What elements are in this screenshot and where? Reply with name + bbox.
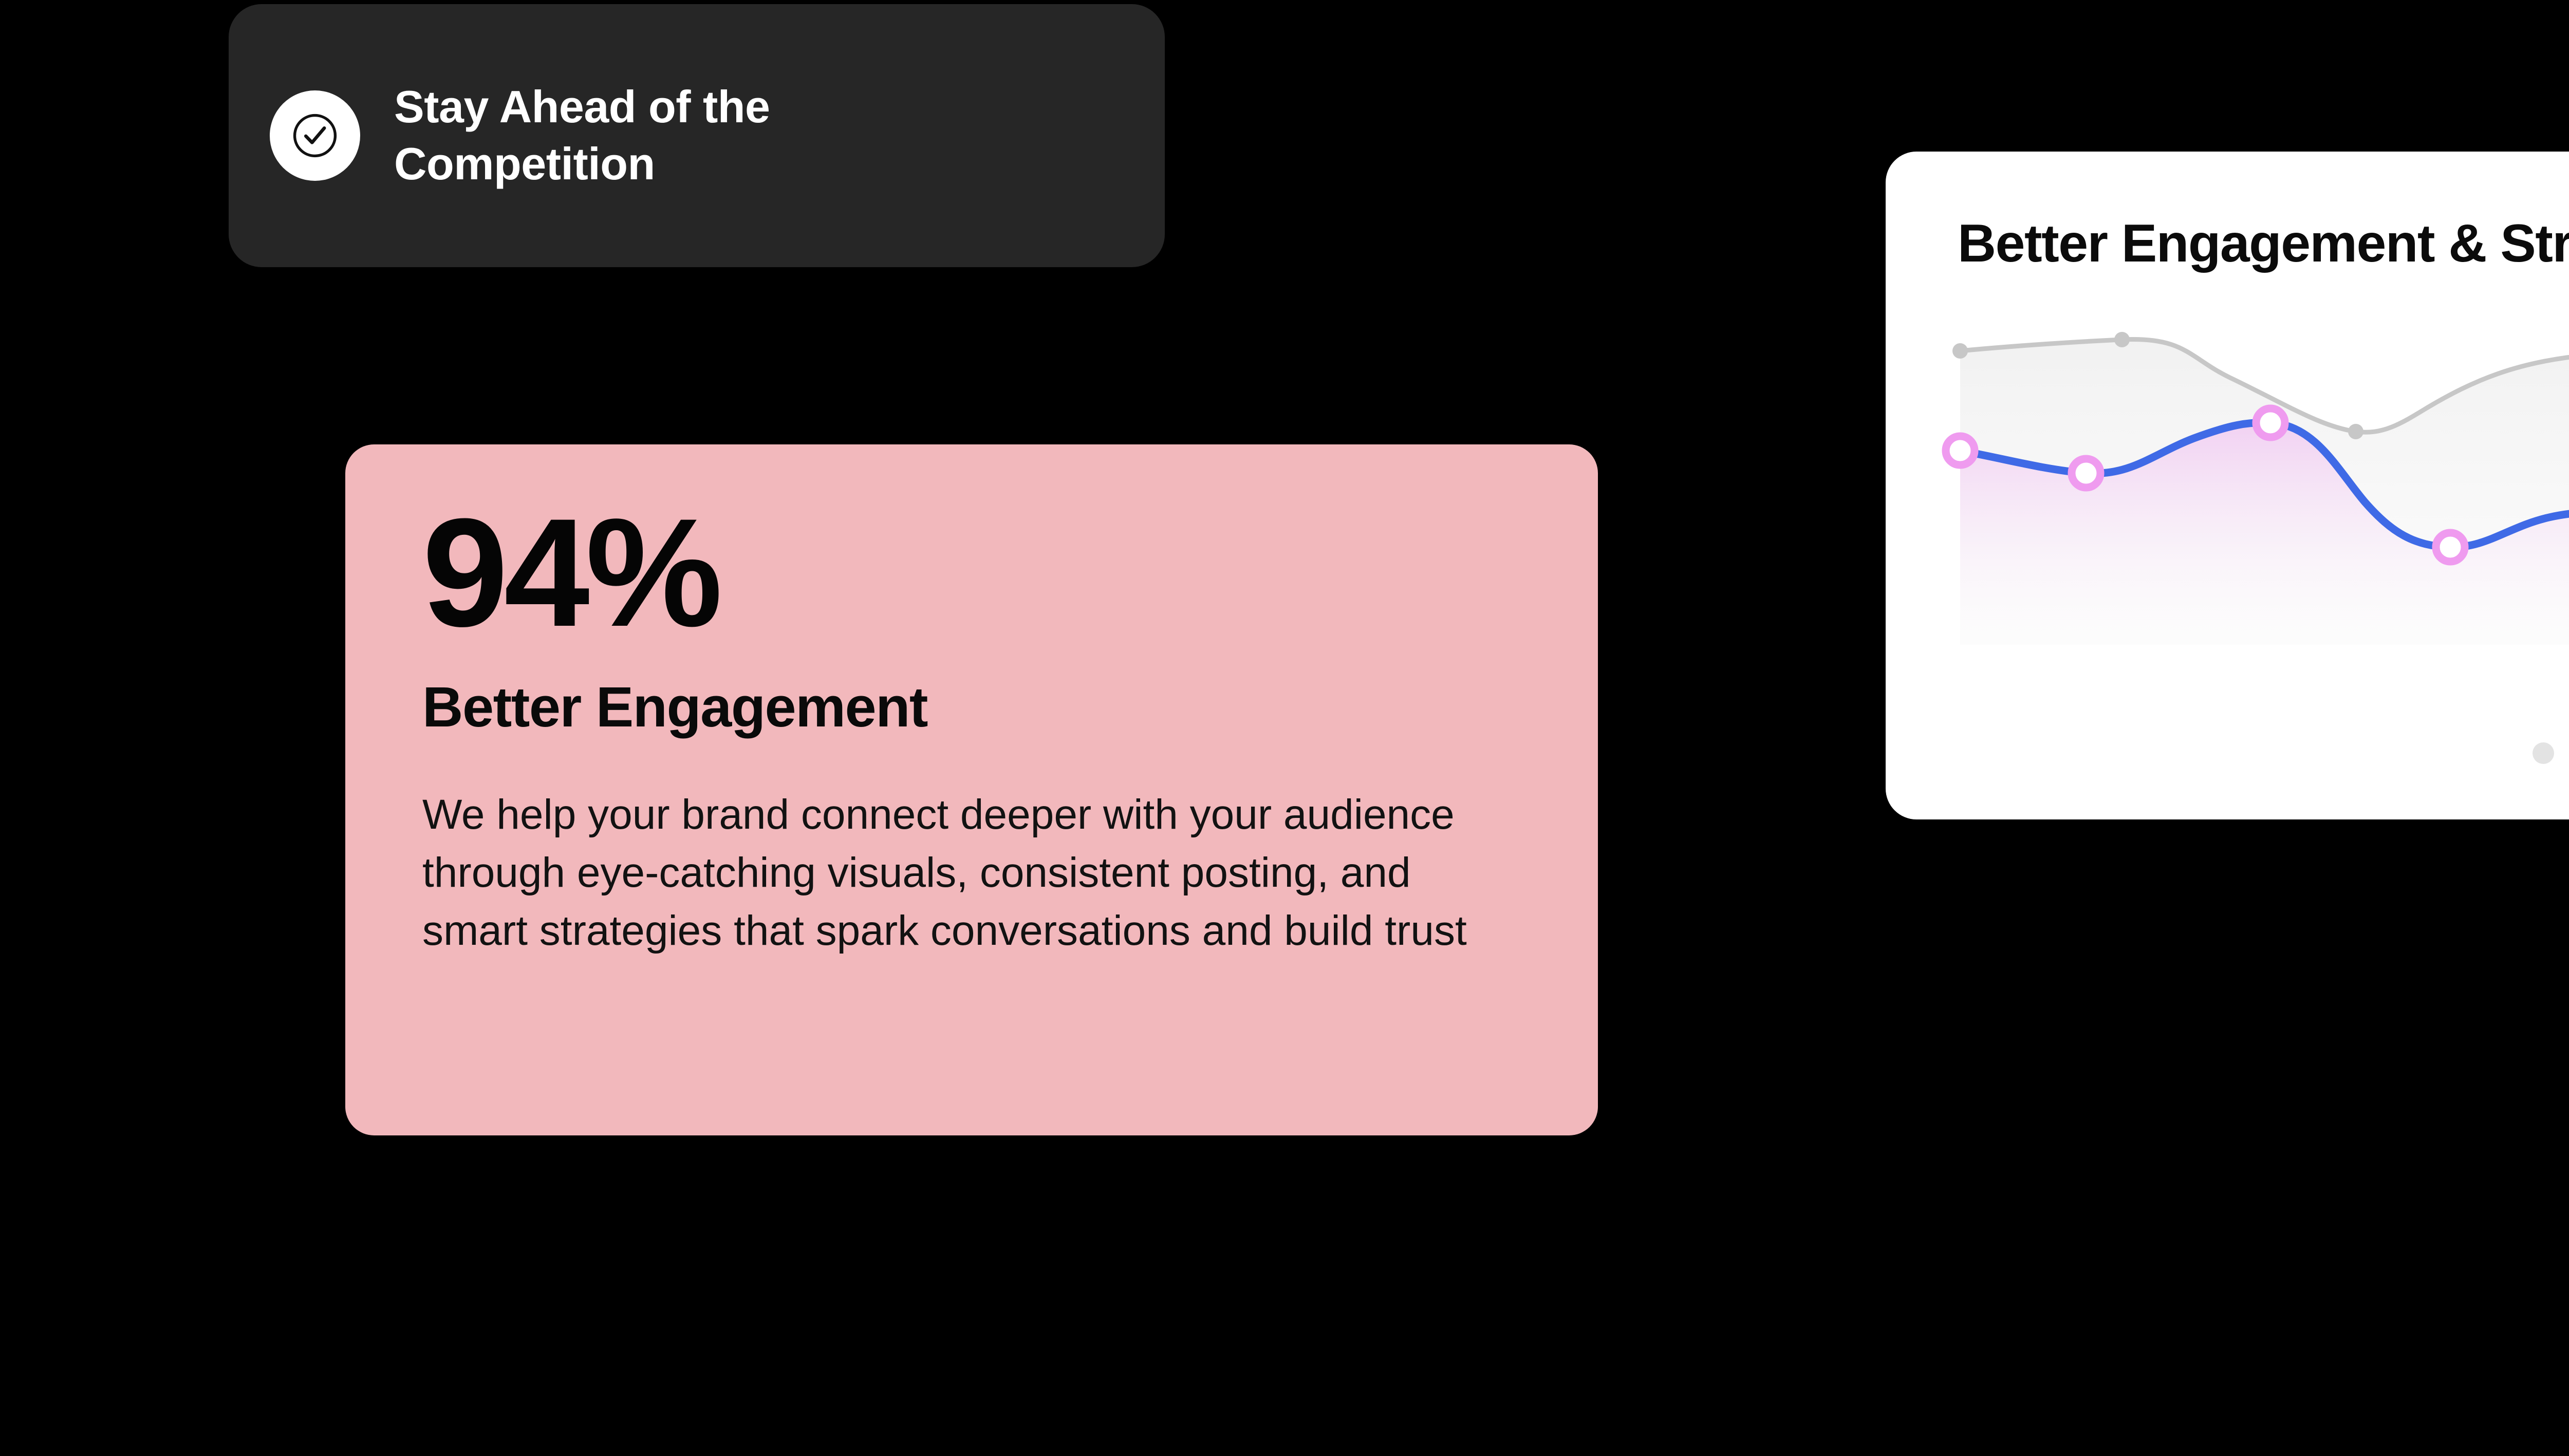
stat-subtitle: Better Engagement [422,676,1521,738]
stat-percent-value: 94% [422,498,1521,646]
carousel-pagination[interactable] [1886,742,2569,764]
pagination-dot-1[interactable] [2533,742,2554,764]
badge-card-stay-ahead[interactable]: Stay Ahead of the Competition [229,4,1165,267]
check-circle-icon [270,90,360,181]
stat-description: We help your brand connect deeper with y… [422,786,1517,960]
badge-label: Stay Ahead of the Competition [394,79,770,193]
line-chart-plot [1960,321,2569,645]
chart-card: Better Engagement & Stronger Brand [1886,152,2569,819]
chart-title: Better Engagement & Stronger Brand [1958,214,2569,273]
stat-card-better-engagement: 94% Better Engagement We help your brand… [345,444,1598,1135]
